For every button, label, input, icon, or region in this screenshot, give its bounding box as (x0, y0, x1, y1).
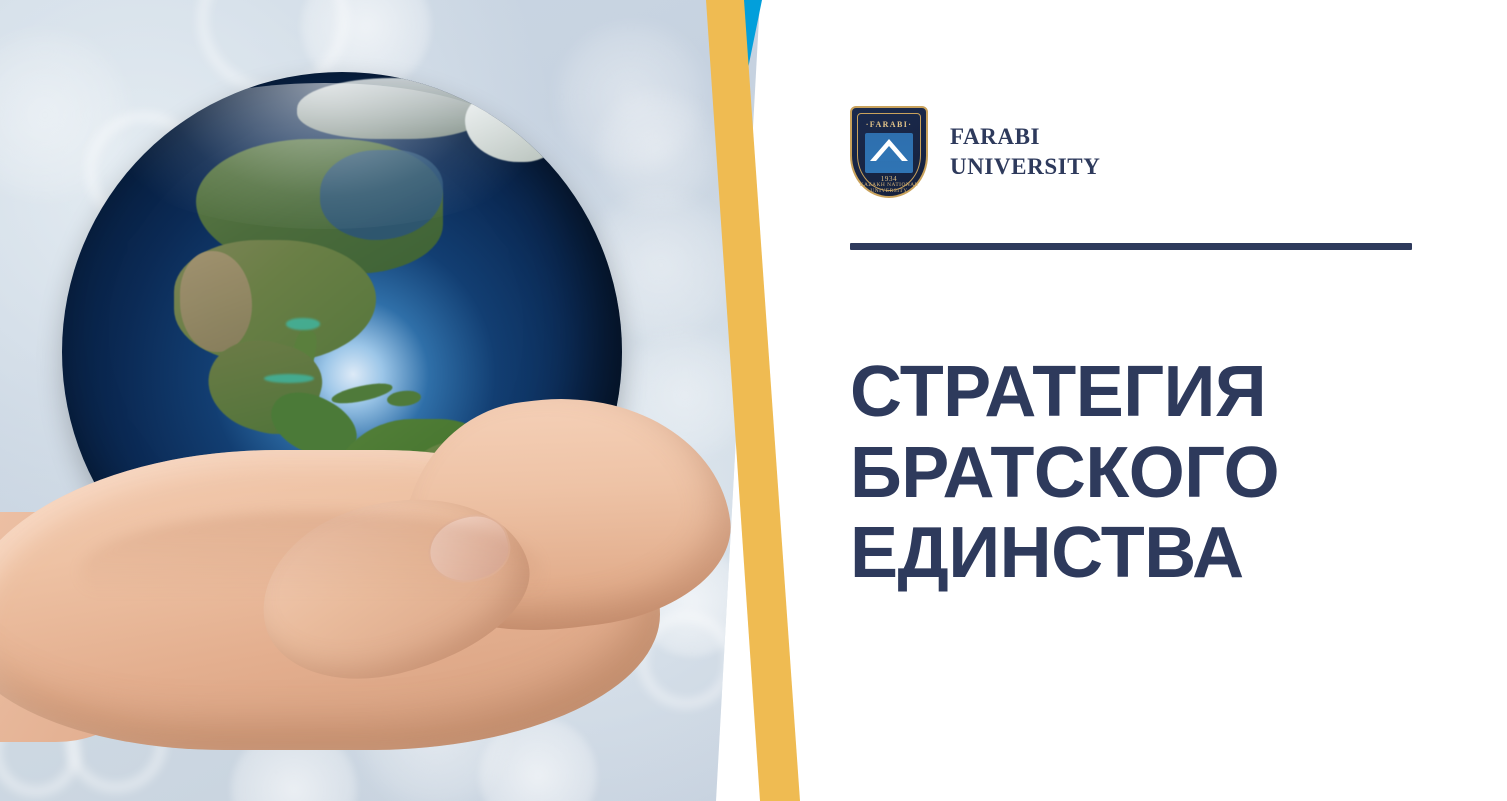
brand-lockup: ·FARABI· 1934 KAZAKH NATIONAL UNIVERSITY… (850, 106, 1100, 198)
page-title-line1: СТРАТЕГИЯ (850, 352, 1450, 433)
reef-highlight (286, 318, 320, 329)
crest-blue-field (865, 133, 913, 173)
crest-top-text: ·FARABI· (862, 117, 916, 131)
crest-arc-text: KAZAKH NATIONAL UNIVERSITY (850, 182, 928, 194)
brand-name-line2: UNIVERSITY (950, 152, 1100, 182)
content-panel: ·FARABI· 1934 KAZAKH NATIONAL UNIVERSITY… (850, 0, 1490, 801)
page-title: СТРАТЕГИЯ БРАТСКОГО ЕДИНСТВА (850, 352, 1450, 594)
page-title-line3: ЕДИНСТВА (850, 513, 1450, 594)
landmass-greenland (465, 89, 560, 162)
slide-root: ·FARABI· 1934 KAZAKH NATIONAL UNIVERSITY… (0, 0, 1507, 801)
brand-name-line1: FARABI (950, 122, 1100, 152)
photo-panel (0, 0, 800, 801)
crest-mountain-notch (876, 146, 902, 161)
horizontal-divider (850, 243, 1412, 250)
landmass-arctic (297, 78, 487, 140)
open-hand-icon (0, 392, 750, 801)
university-crest-icon: ·FARABI· 1934 KAZAKH NATIONAL UNIVERSITY (850, 106, 928, 198)
page-title-line2: БРАТСКОГО (850, 433, 1450, 514)
hand-palm-crease (80, 512, 540, 632)
brand-name: FARABI UNIVERSITY (950, 122, 1100, 183)
